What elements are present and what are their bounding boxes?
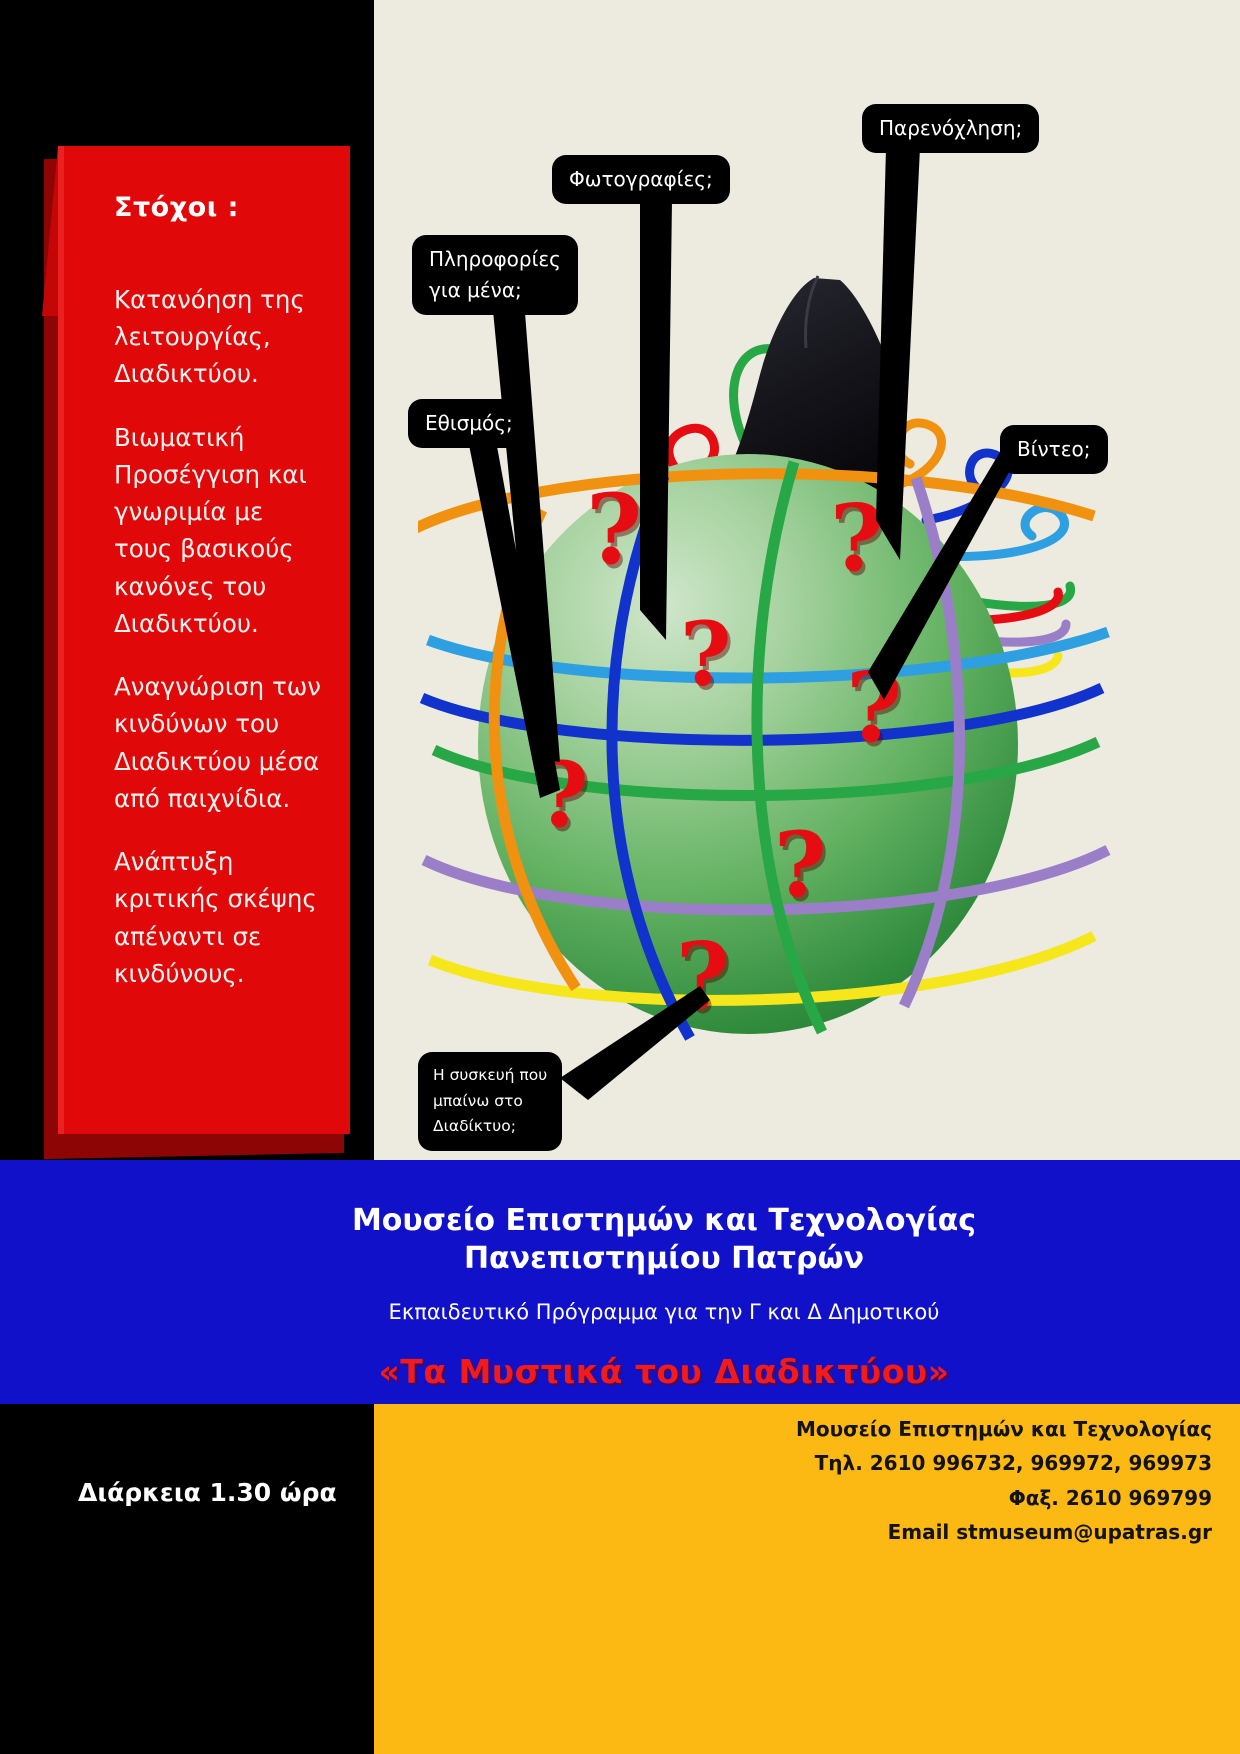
bubble-harassment: Παρενόχληση; [862,104,1039,153]
program-subtitle: Εκπαιδευτικό Πρόγραμμα για την Γ και Δ Δ… [94,1300,1234,1324]
program-title: «Τα Μυστικά του Διαδικτύου» [94,1352,1234,1391]
museum-title: Μουσείο Επιστημών και Τεχνολογίας Πανεπι… [94,1202,1234,1279]
contact-org: Μουσείο Επιστημών και Τεχνολογίας [592,1412,1212,1446]
footer-text-block: Μουσείο Επιστημών και Τεχνολογίας Πανεπι… [374,1160,1240,1404]
contact-details: Μουσείο Επιστημών και Τεχνολογίας Τηλ. 2… [592,1412,1212,1550]
bubble-addiction: Εθισμός; [408,399,530,448]
duration-label: Διάρκεια 1.30 ώρα [78,1478,337,1507]
museum-title-line2: Πανεπιστημίου Πατρών [464,1241,864,1276]
contact-fax: Φαξ. 2610 969799 [592,1481,1212,1515]
bubble-device: Η συσκευή που μπαίνω στο Διαδίκτυο; [418,1052,562,1151]
bubble-info-about-me: Πληροφορίες για μένα; [412,235,578,315]
contact-email: Email stmuseum@upatras.gr [592,1515,1212,1549]
museum-title-line1: Μουσείο Επιστημών και Τεχνολογίας [352,1203,976,1238]
contact-phone: Τηλ. 2610 996732, 969972, 969973 [592,1446,1212,1480]
poster-root: ? ? ? ? ? ? ? Παρενόχληση; Φωτογραφίες; … [0,0,1240,1754]
bubble-photos: Φωτογραφίες; [552,155,730,204]
bubble-video: Βίντεο; [1000,425,1108,474]
